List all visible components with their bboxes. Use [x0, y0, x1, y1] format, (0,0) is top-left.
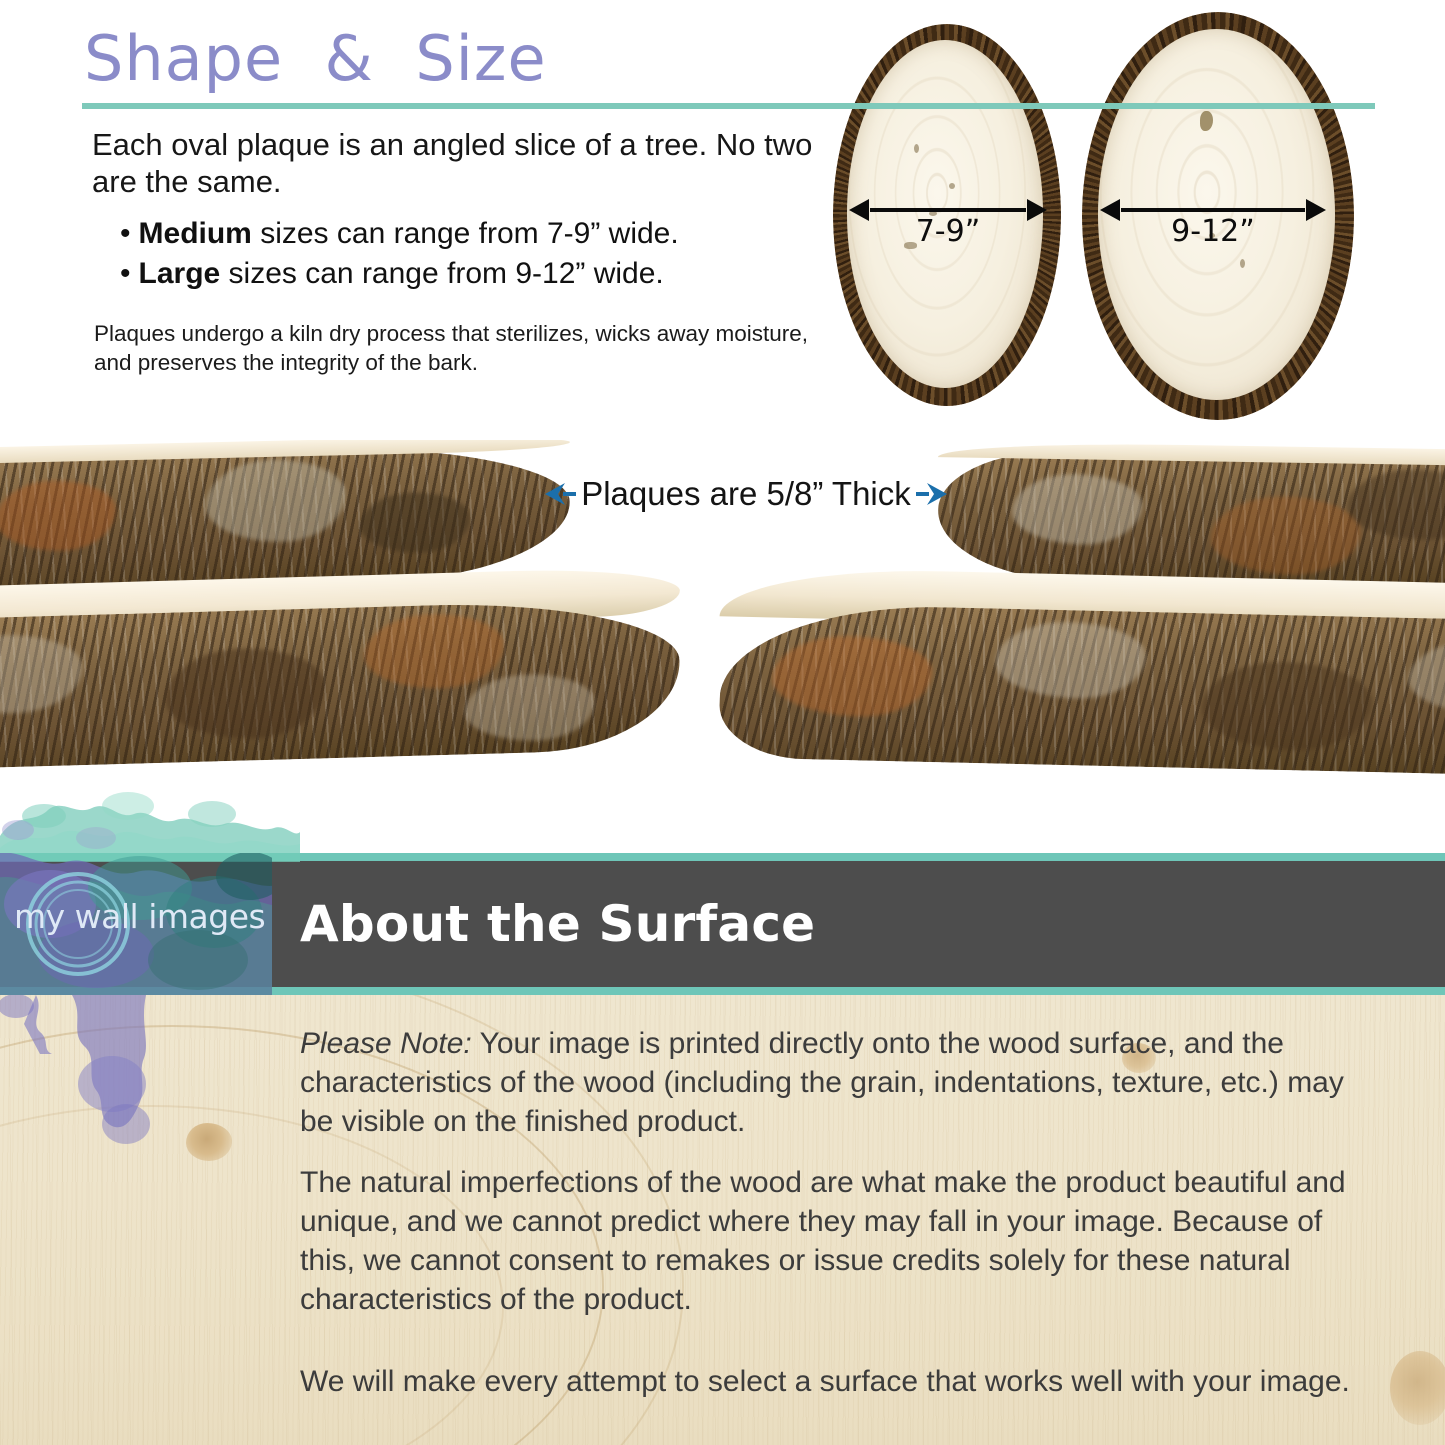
surface-note-paragraph: Please Note: Your image is printed direc…: [300, 1024, 1360, 1141]
medium-width-label: 7-9”: [870, 214, 1026, 249]
oval-plaque-photos: 7-9” 9-12”: [0, 0, 1445, 440]
surface-selection-paragraph: We will make every attempt to select a s…: [300, 1362, 1360, 1401]
shape-and-size-section: Shape & Size Each oval plaque is an angl…: [0, 0, 1445, 440]
left-upper-plaque-edge: [0, 442, 571, 593]
arrow-left-icon: [543, 474, 577, 516]
about-surface-title: About the Surface: [300, 895, 815, 953]
wood-knot: [1390, 1351, 1445, 1425]
thickness-callout: Plaques are 5/8” Thick: [536, 474, 956, 516]
large-width-label: 9-12”: [1121, 214, 1305, 249]
surface-imperfections-paragraph: The natural imperfections of the wood ar…: [300, 1163, 1360, 1319]
right-lower-plaque-edge: [718, 602, 1445, 776]
title-underline-rule: [82, 103, 1375, 109]
left-lower-plaque-edge: [0, 598, 682, 771]
thickness-label-text: Plaques are 5/8” Thick: [581, 475, 911, 512]
medium-width-arrow: [870, 208, 1026, 212]
please-note-emphasis: Please Note:: [300, 1027, 472, 1060]
arrow-right-icon: [915, 474, 949, 516]
large-width-arrow: [1121, 208, 1305, 212]
paragraph-text: We will make every attempt to select a s…: [300, 1365, 1350, 1398]
wood-knot: [186, 1123, 232, 1161]
paragraph-text: The natural imperfections of the wood ar…: [300, 1166, 1346, 1316]
right-upper-plaque-edge: [937, 449, 1445, 589]
wood-speck: [949, 183, 955, 189]
brand-logo-text: my wall images: [14, 897, 265, 936]
infographic-page: Shape & Size Each oval plaque is an angl…: [0, 0, 1445, 1445]
wood-knot-mark: [1200, 111, 1213, 131]
wood-speck: [914, 144, 919, 153]
